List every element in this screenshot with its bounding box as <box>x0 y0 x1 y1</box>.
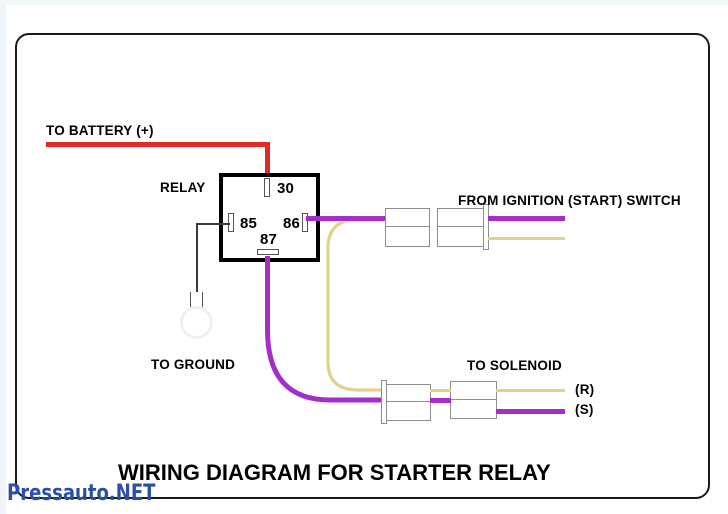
scan-edge-top <box>0 0 728 5</box>
ground-eyelet-icon <box>180 306 213 339</box>
connector-divider <box>451 399 496 400</box>
wire-ignition-yellow <box>488 237 565 240</box>
relay-terminal-85-label: 85 <box>240 215 257 232</box>
wire-solenoid-s <box>496 409 565 414</box>
wiring-diagram-page: TO BATTERY (+) RELAY 30 85 86 87 TO GROU… <box>0 0 728 514</box>
wire-ground-horizontal <box>196 223 230 225</box>
connector-ignition-female <box>437 208 484 247</box>
label-to-ground: TO GROUND <box>151 357 235 372</box>
relay-terminal-30-pin <box>264 178 270 197</box>
wire-ground-vertical <box>196 223 198 295</box>
connector-solenoid-male <box>386 384 431 421</box>
connector-solenoid-female <box>450 381 497 419</box>
wire-solenoid-mid-yellow <box>430 389 451 392</box>
relay-terminal-86-label: 86 <box>283 215 300 232</box>
label-relay: RELAY <box>160 180 206 195</box>
diagram-frame <box>15 33 710 499</box>
relay-terminal-87-pin <box>257 249 279 255</box>
connector-divider <box>386 226 429 227</box>
label-from-ignition: FROM IGNITION (START) SWITCH <box>458 193 681 208</box>
scan-edge-left <box>0 0 6 514</box>
wire-battery-horizontal <box>46 142 270 147</box>
connector-ignition-tab <box>483 204 489 250</box>
relay-terminal-87-label: 87 <box>260 231 277 248</box>
wire-ignition-purple <box>488 216 565 221</box>
connector-divider <box>387 401 430 402</box>
watermark-pressauto: Pressauto.NET <box>7 481 155 506</box>
wire-solenoid-mid-purple <box>430 398 451 403</box>
label-wire-r: (R) <box>575 382 594 397</box>
label-to-solenoid: TO SOLENOID <box>467 358 562 373</box>
label-wire-s: (S) <box>575 402 594 417</box>
connector-ignition-male <box>385 208 430 247</box>
label-to-battery: TO BATTERY (+) <box>46 123 154 138</box>
wire-solenoid-r <box>496 389 565 392</box>
wire-86-to-connector <box>306 216 386 221</box>
connector-divider <box>438 226 483 227</box>
relay-terminal-30-label: 30 <box>277 180 294 197</box>
diagram-title: WIRING DIAGRAM FOR STARTER RELAY <box>118 460 551 486</box>
